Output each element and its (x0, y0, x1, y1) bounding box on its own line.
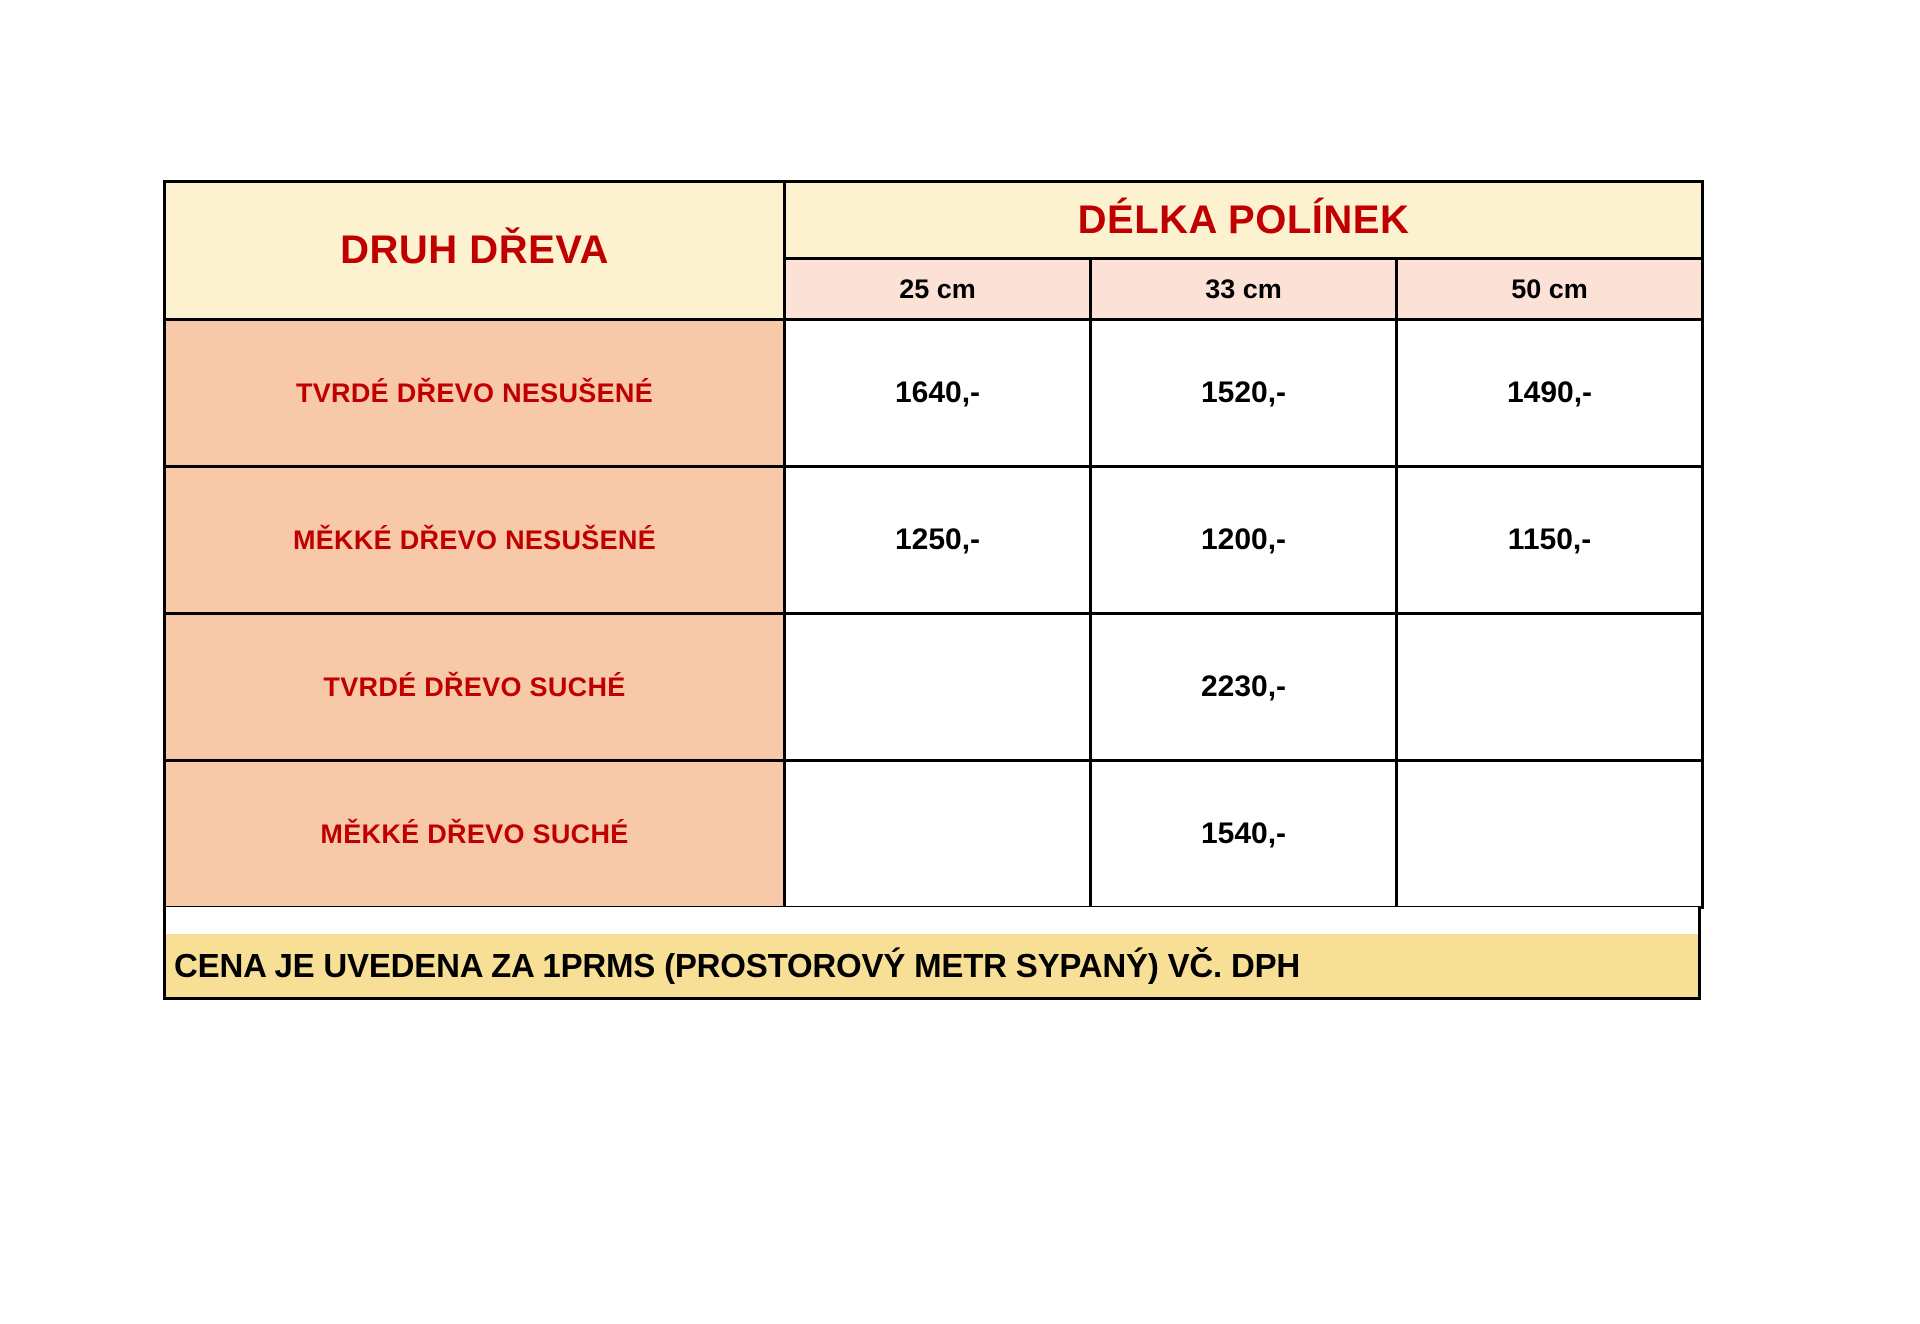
wood-kind-label: TVRDÉ DŘEVO NESUŠENÉ (165, 320, 785, 467)
note-spacer (166, 907, 1698, 934)
table-row: TVRDÉ DŘEVO SUCHÉ 2230,- (165, 614, 1703, 761)
length-group-header: DÉLKA POLÍNEK (785, 182, 1703, 259)
table-row: MĚKKÉ DŘEVO SUCHÉ 1540,- (165, 761, 1703, 908)
price-note-container: CENA JE UVEDENA ZA 1PRMS (PROSTOROVÝ MET… (163, 907, 1701, 1000)
header-row-top: DRUH DŘEVA DÉLKA POLÍNEK (165, 182, 1703, 259)
price-list-sheet: DRUH DŘEVA DÉLKA POLÍNEK 25 cm 33 cm 50 … (0, 0, 1920, 1324)
kind-column-header: DRUH DŘEVA (165, 182, 785, 320)
price-cell: 1490,- (1397, 320, 1703, 467)
wood-kind-label: MĚKKÉ DŘEVO NESUŠENÉ (165, 467, 785, 614)
price-table: DRUH DŘEVA DÉLKA POLÍNEK 25 cm 33 cm 50 … (163, 180, 1704, 909)
wood-kind-label: TVRDÉ DŘEVO SUCHÉ (165, 614, 785, 761)
length-header-25cm: 25 cm (785, 259, 1091, 320)
table-body: TVRDÉ DŘEVO NESUŠENÉ 1640,- 1520,- 1490,… (165, 320, 1703, 908)
price-cell: 1640,- (785, 320, 1091, 467)
price-cell (1397, 614, 1703, 761)
table-header: DRUH DŘEVA DÉLKA POLÍNEK 25 cm 33 cm 50 … (165, 182, 1703, 320)
wood-kind-label: MĚKKÉ DŘEVO SUCHÉ (165, 761, 785, 908)
price-cell: 1150,- (1397, 467, 1703, 614)
table-row: TVRDÉ DŘEVO NESUŠENÉ 1640,- 1520,- 1490,… (165, 320, 1703, 467)
price-cell: 1540,- (1091, 761, 1397, 908)
length-header-50cm: 50 cm (1397, 259, 1703, 320)
price-cell (1397, 761, 1703, 908)
price-cell: 1520,- (1091, 320, 1397, 467)
length-header-33cm: 33 cm (1091, 259, 1397, 320)
price-note-text: CENA JE UVEDENA ZA 1PRMS (PROSTOROVÝ MET… (166, 934, 1698, 997)
price-cell: 2230,- (1091, 614, 1397, 761)
price-cell: 1200,- (1091, 467, 1397, 614)
price-cell (785, 614, 1091, 761)
price-cell: 1250,- (785, 467, 1091, 614)
table-row: MĚKKÉ DŘEVO NESUŠENÉ 1250,- 1200,- 1150,… (165, 467, 1703, 614)
price-cell (785, 761, 1091, 908)
